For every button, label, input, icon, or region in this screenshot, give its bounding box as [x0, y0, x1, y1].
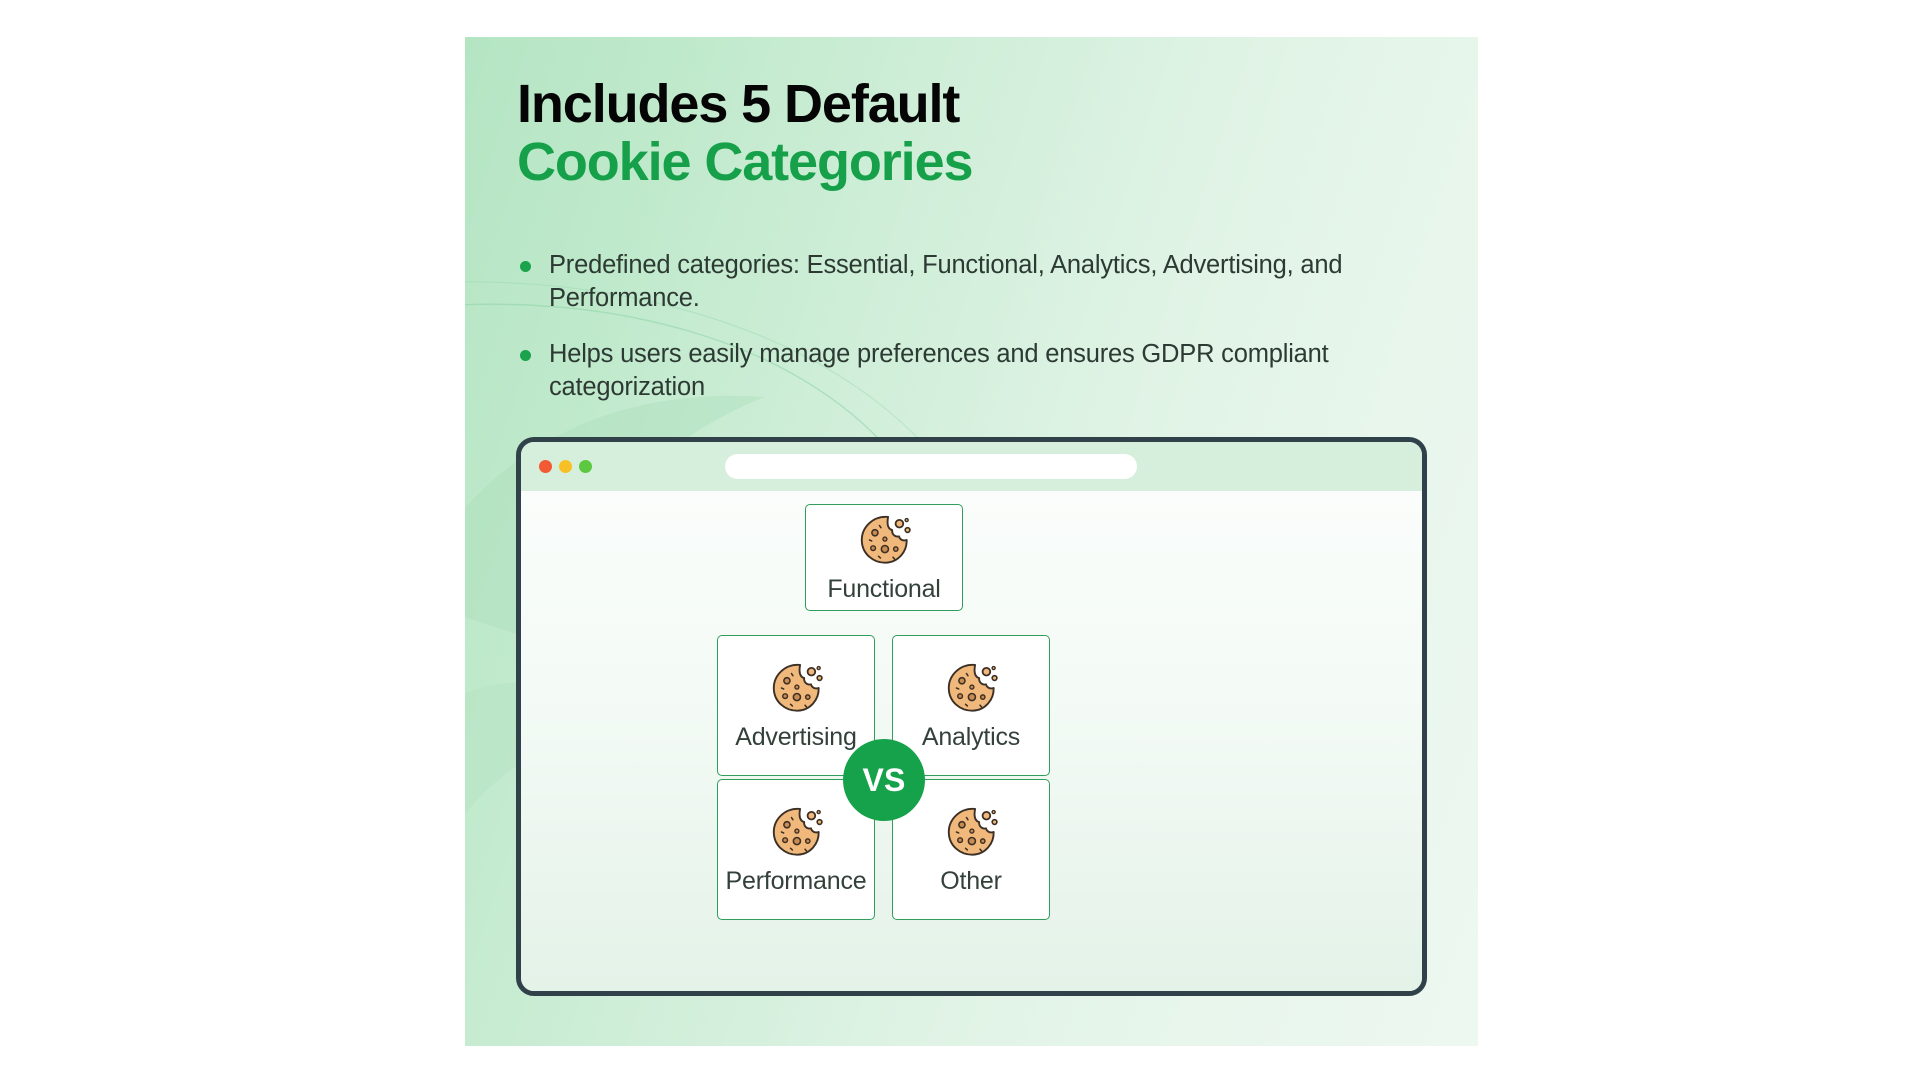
cookie-icon [767, 803, 825, 861]
traffic-light-group [539, 460, 592, 473]
category-card-functional[interactable]: Functional [805, 504, 963, 611]
category-label: Other [940, 867, 1002, 896]
cookie-icon [942, 803, 1000, 861]
bullet-dot-icon [520, 261, 531, 272]
browser-viewport: Functional [521, 491, 1422, 991]
slide-canvas: Includes 5 Default Cookie Categories Pre… [0, 0, 1920, 1080]
heading-line-1: Includes 5 Default [517, 75, 1417, 133]
category-label: Performance [726, 867, 867, 896]
category-label: Functional [827, 575, 940, 604]
cookie-icon [767, 659, 825, 717]
browser-titlebar [521, 442, 1422, 491]
list-item: Helps users easily manage preferences an… [517, 338, 1427, 405]
cookie-icon [855, 511, 913, 569]
close-button-icon[interactable] [539, 460, 552, 473]
list-item-text: Helps users easily manage preferences an… [549, 340, 1329, 401]
page-title: Includes 5 Default Cookie Categories [517, 75, 1417, 192]
category-label: Analytics [922, 723, 1020, 752]
bullet-dot-icon [520, 350, 531, 361]
cookie-category-grid: Functional [521, 491, 1422, 991]
vs-badge: VS [843, 739, 925, 821]
category-label: Advertising [735, 723, 856, 752]
minimize-button-icon[interactable] [559, 460, 572, 473]
heading-line-2: Cookie Categories [517, 133, 1417, 191]
slide-panel: Includes 5 Default Cookie Categories Pre… [465, 37, 1478, 1046]
maximize-button-icon[interactable] [579, 460, 592, 473]
feature-bullet-list: Predefined categories: Essential, Functi… [517, 249, 1427, 405]
cookie-icon [942, 659, 1000, 717]
list-item: Predefined categories: Essential, Functi… [517, 249, 1427, 316]
browser-window-mockup: Functional [516, 437, 1427, 996]
list-item-text: Predefined categories: Essential, Functi… [549, 251, 1342, 312]
address-bar-input[interactable] [725, 454, 1137, 479]
